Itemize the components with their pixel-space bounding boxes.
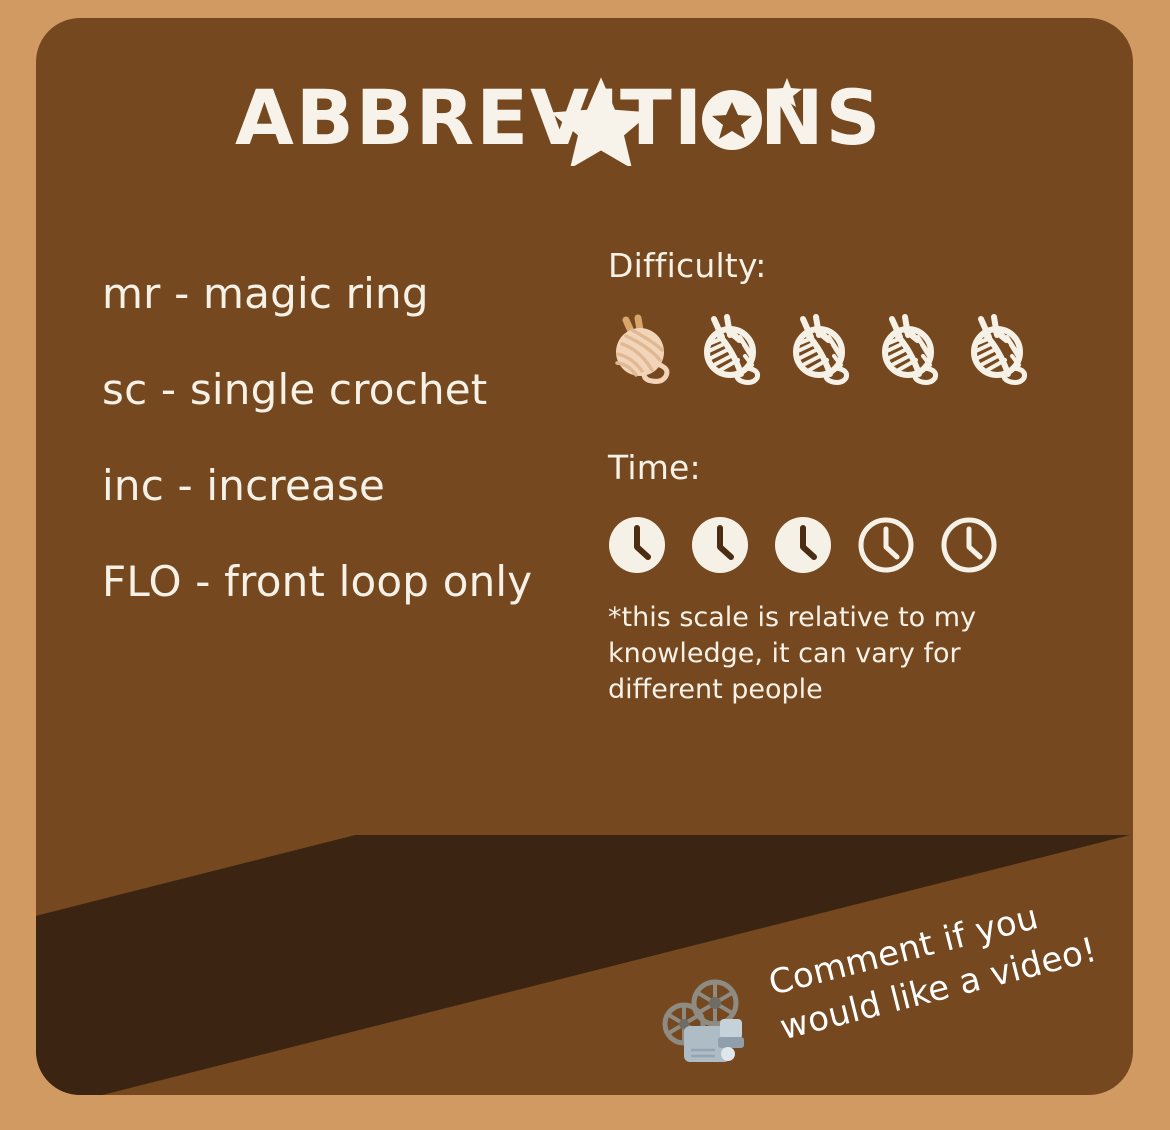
time-label: Time: [608, 448, 1078, 488]
clock-icon [940, 516, 998, 574]
yarn-ball-icon [964, 312, 1032, 386]
film-projector-icon [658, 974, 754, 1070]
banner-text: Comment if you would like a video! [764, 882, 1102, 1051]
yarn-ball-icon [875, 312, 943, 386]
yarn-ball-icon [786, 312, 854, 386]
ratings-column: Difficulty: [608, 246, 1078, 708]
clock-icon [608, 516, 666, 574]
title-part-3: NS [760, 74, 882, 162]
abbreviation-list: mr - magic ring sc - single crochet inc … [102, 246, 642, 630]
clock-icon [691, 516, 749, 574]
yarn-ball-icon [608, 312, 676, 386]
list-item: mr - magic ring [102, 246, 642, 342]
banner-content: Comment if you would like a video! [636, 956, 1106, 1095]
clock-icon [857, 516, 915, 574]
difficulty-label: Difficulty: [608, 246, 1078, 286]
time-rating [608, 516, 1078, 574]
scale-footnote: *this scale is relative to my knowledge,… [608, 600, 1008, 708]
list-item: inc - increase [102, 438, 642, 534]
clock-icon [774, 516, 832, 574]
yarn-ball-icon [697, 312, 765, 386]
title-artwork: ABBREVI TI NS [235, 74, 935, 166]
difficulty-rating [608, 312, 1078, 386]
abbreviations-card: ABBREVI TI NS mr - magic ring sc - singl… [36, 18, 1133, 1095]
page-title: ABBREVI TI NS [36, 74, 1133, 166]
list-item: FLO - front loop only [102, 534, 642, 630]
list-item: sc - single crochet [102, 342, 642, 438]
